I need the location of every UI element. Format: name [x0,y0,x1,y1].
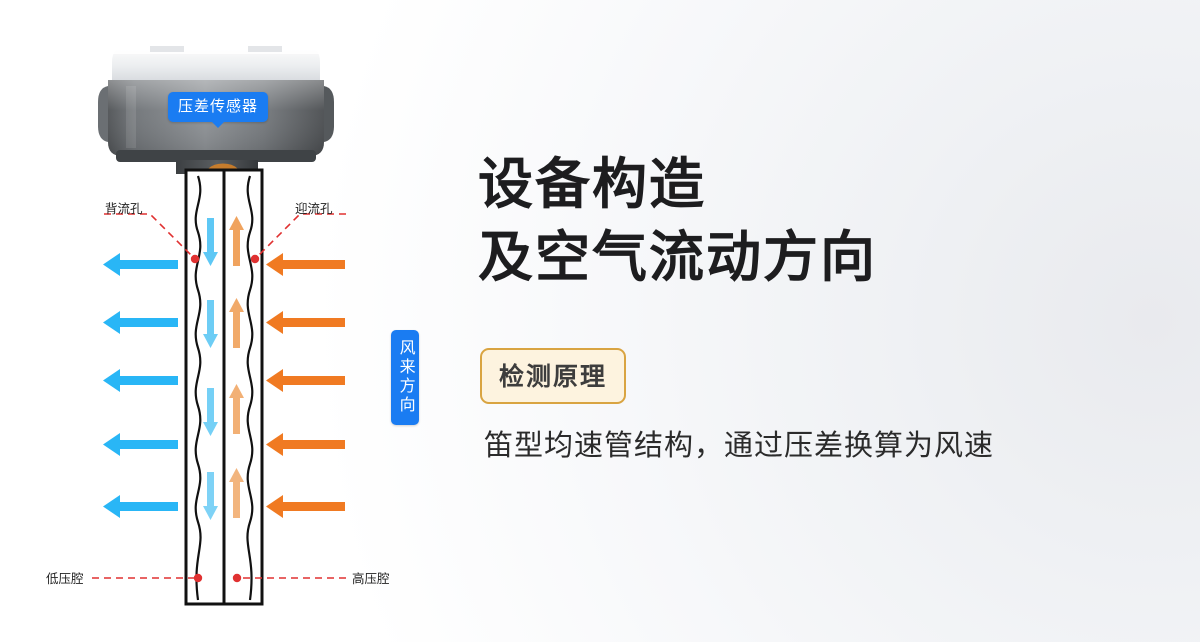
label-back-hole: 背流孔 [105,198,143,217]
description-text: 笛型均速管结构，通过压差换算为风速 [484,422,994,464]
headline-line-2: 及空气流动方向 [478,221,877,294]
probe-tube [186,170,262,604]
headline-line-1: 设备构造 [478,153,706,215]
device-diagram: 压差传感器 风来方向 背流孔 迎流孔 低压腔 高压腔 [0,0,470,642]
label-front-hole: 迎流孔 [295,198,333,217]
outgoing-wind-arrows [103,253,178,518]
sensor-label-text: 压差传感器 [178,98,258,115]
label-high-pressure: 高压腔 [352,568,390,587]
poster-canvas: 压差传感器 风来方向 背流孔 迎流孔 低压腔 高压腔 设备构造 及空气流动方向 … [0,0,1200,642]
label-low-pressure: 低压腔 [46,568,84,587]
text-panel: 设备构造 及空气流动方向 检测原理 笛型均速管结构，通过压差换算为风速 [478,0,1200,642]
incoming-wind-arrows [266,253,345,518]
wind-direction-text: 风来方向 [397,339,414,415]
tag-wrapper: 检测原理 [480,348,626,404]
headline: 设备构造 及空气流动方向 [478,148,877,293]
sensor-label-chip: 压差传感器 [168,92,268,122]
wind-direction-chip: 风来方向 [391,330,419,425]
principle-tag: 检测原理 [480,348,626,404]
